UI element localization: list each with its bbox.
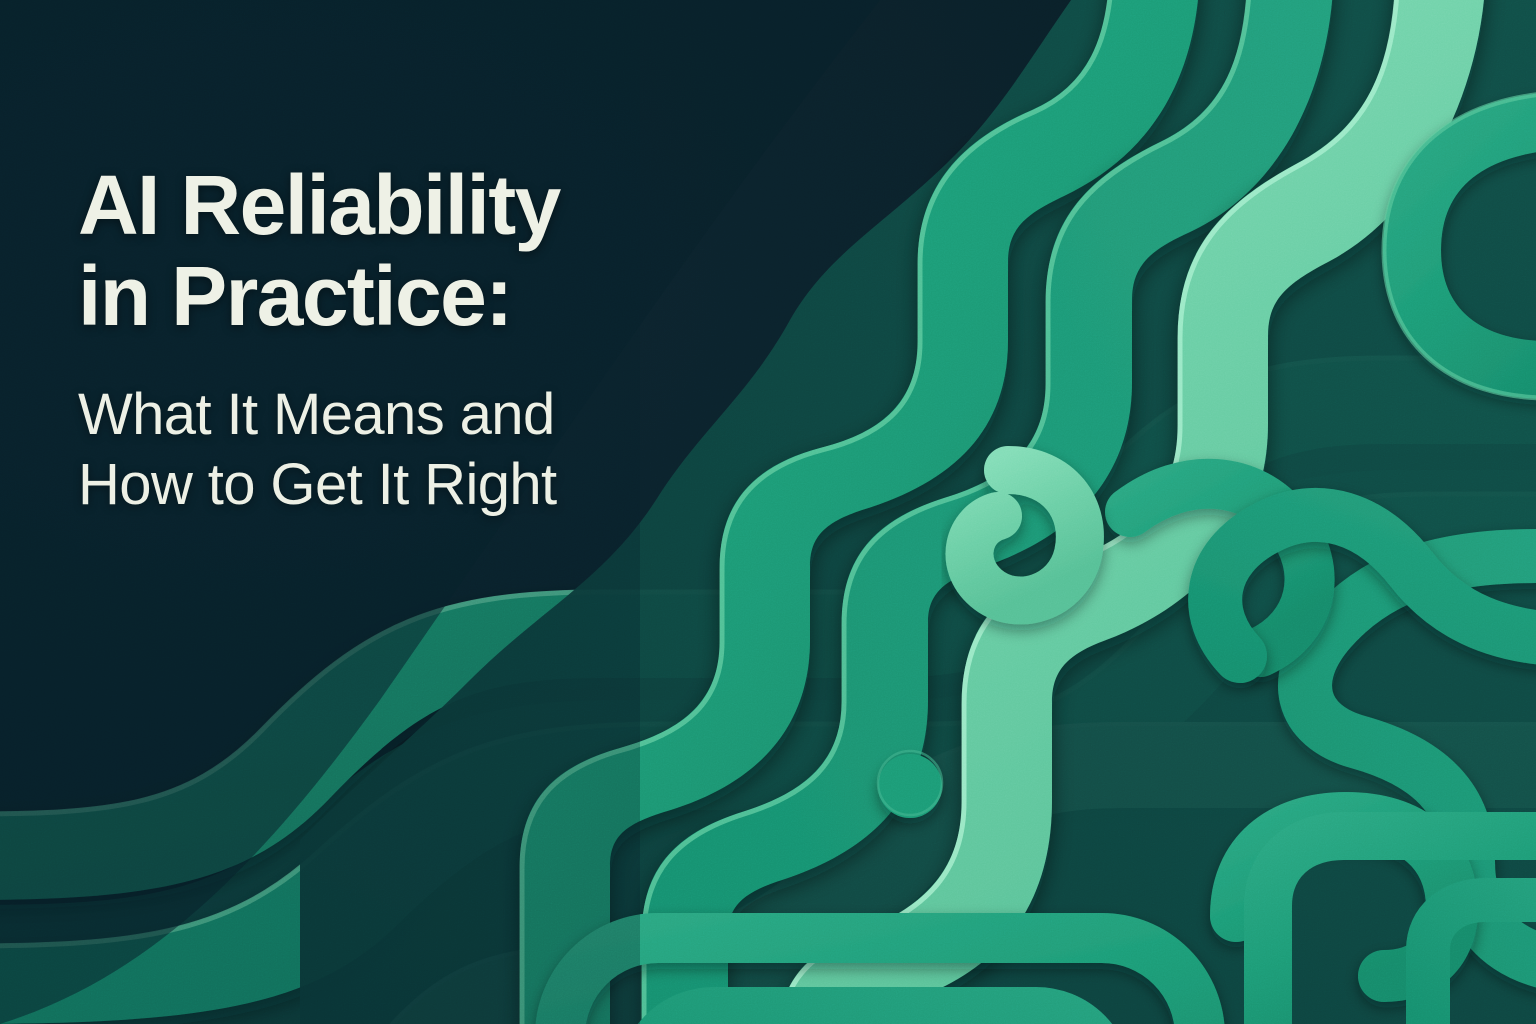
accent-dot: [878, 754, 942, 818]
headline-block: AI Reliability in Practice: What It Mean…: [78, 160, 778, 519]
page-subtitle: What It Means and How to Get It Right: [78, 342, 778, 519]
page-title: AI Reliability in Practice:: [78, 160, 778, 342]
article-hero-banner: AI Reliability in Practice: What It Mean…: [0, 0, 1536, 1024]
nested-rect-inner: [640, 1010, 1110, 1024]
